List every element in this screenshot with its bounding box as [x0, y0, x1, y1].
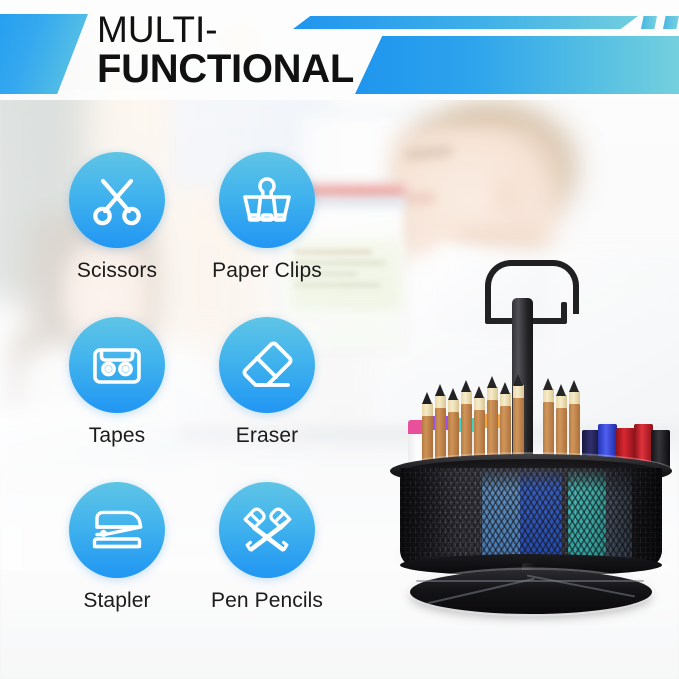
base-wire-spokes: [410, 576, 652, 608]
product-organizer: [386, 258, 676, 588]
page-title: MULTI- FUNCTIONAL: [97, 12, 354, 88]
tape-dispenser-icon: [88, 336, 146, 394]
feature-item-scissors[interactable]: Scissors: [42, 152, 192, 317]
stapler-icon: [88, 501, 146, 559]
scissors-icon: [88, 171, 146, 229]
feature-label: Paper Clips: [212, 259, 322, 283]
binder-clip-icon: [238, 171, 296, 229]
feature-label: Stapler: [83, 589, 150, 613]
feature-label: Scissors: [77, 259, 157, 283]
feature-grid: Scissors Paper Clips: [42, 152, 342, 647]
eraser-icon: [238, 336, 296, 394]
title-line-2: FUNCTIONAL: [97, 50, 354, 88]
feature-icon-circle: [219, 317, 315, 413]
feature-item-tapes[interactable]: Tapes: [42, 317, 192, 482]
feature-label: Eraser: [236, 424, 298, 448]
header-banner: MULTI- FUNCTIONAL: [0, 0, 679, 100]
feature-icon-circle: [69, 482, 165, 578]
feature-icon-circle: [69, 152, 165, 248]
feature-item-eraser[interactable]: Eraser: [192, 317, 342, 482]
header-dash-1: [641, 16, 657, 29]
feature-label: Tapes: [89, 424, 146, 448]
organizer-mesh-body: [400, 468, 662, 568]
feature-item-pen-pencils[interactable]: Pen Pencils: [192, 482, 342, 647]
product-feature-image: MULTI- FUNCTIONAL Scissors: [0, 0, 679, 679]
header-dash-2: [663, 16, 679, 29]
pen-pencils-icon: [238, 501, 296, 559]
header-blue-block: [355, 36, 679, 94]
feature-item-paper-clips[interactable]: Paper Clips: [192, 152, 342, 317]
feature-item-stapler[interactable]: Stapler: [42, 482, 192, 647]
feature-icon-circle: [219, 152, 315, 248]
feature-icon-circle: [69, 317, 165, 413]
title-line-1: MULTI-: [97, 12, 354, 48]
feature-label: Pen Pencils: [211, 589, 323, 613]
body-shading: [400, 468, 662, 568]
feature-icon-circle: [219, 482, 315, 578]
